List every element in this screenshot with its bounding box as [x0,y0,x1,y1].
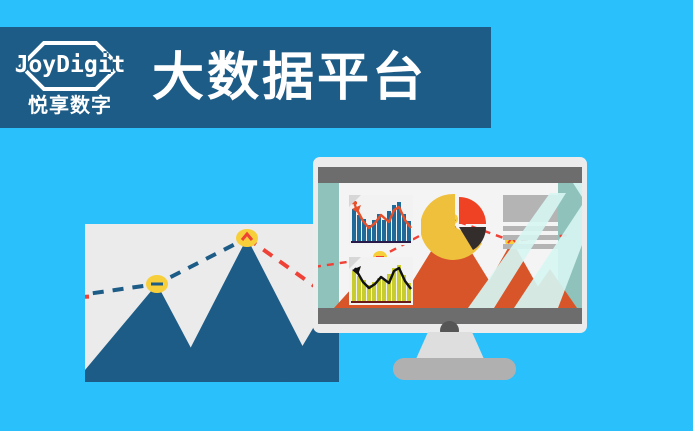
brand-logo: JoyDigit 悦享数字 [12,36,128,120]
bar-chart-blue-svg [349,195,413,245]
mountain-trend-svg [85,224,339,382]
mountain-trend-panel [85,224,339,382]
bar-chart-blue-card [349,195,413,245]
bar-chart-olive-svg [349,257,413,305]
hexagon-icon: JoyDigit [18,40,122,92]
logo-chinese-text: 悦享数字 [28,96,112,116]
monitor-bezel-top [318,167,582,183]
text-line [503,235,558,240]
header-banner: JoyDigit 悦享数字 大数据平台 [0,27,491,128]
text-line [503,244,558,249]
bar-chart-olive-card [349,257,413,305]
content-placeholder [503,195,558,249]
image-placeholder [503,195,558,222]
monitor [313,157,587,333]
screenshot-stage: JoyDigit 悦享数字 大数据平台 [0,0,693,431]
text-line [503,226,558,231]
pie-chart [421,193,493,265]
logo-latin-text: JoyDigit [15,54,126,77]
pie-chart-svg [421,193,493,265]
monitor-screen [318,183,582,308]
monitor-stand-base [393,358,516,380]
page-title: 大数据平台 [152,52,427,104]
